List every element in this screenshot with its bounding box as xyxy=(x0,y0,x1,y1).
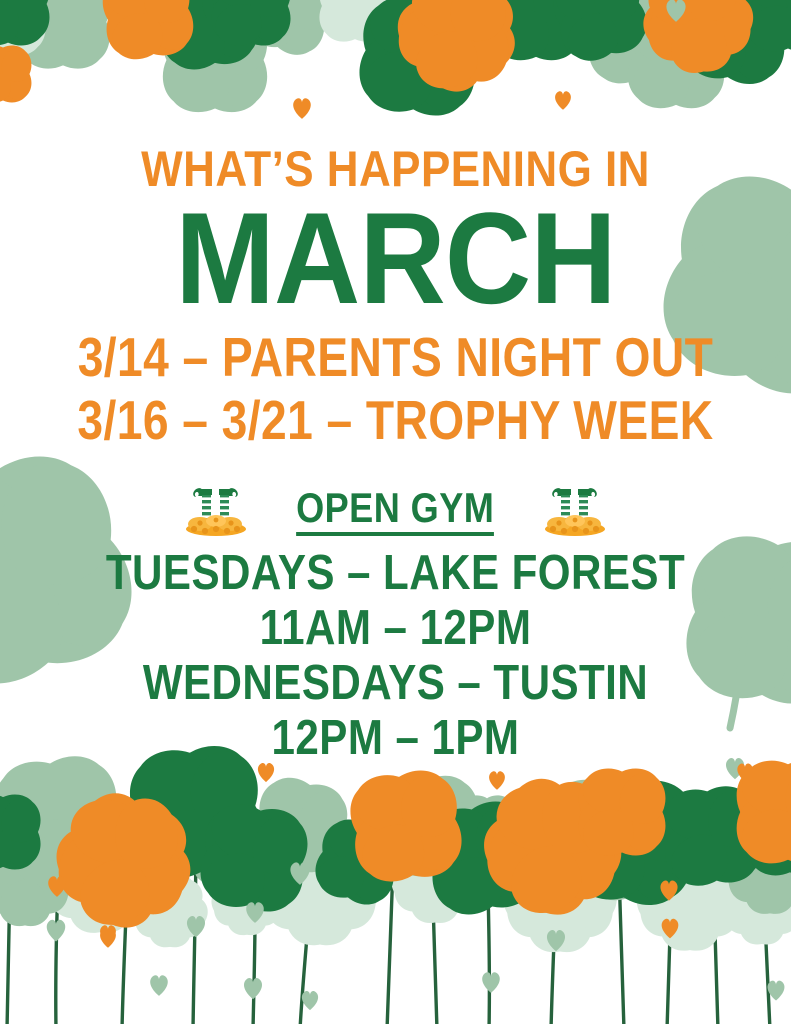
bottom-border-clovers xyxy=(0,722,791,1024)
page-title-month: MARCH xyxy=(32,193,760,323)
leprechaun-legs-pot-of-gold-icon-left xyxy=(178,488,254,536)
open-gym-title: OPEN GYM xyxy=(296,487,494,536)
event-line-2: 3/16 – 3/21 – TROPHY WEEK xyxy=(63,393,727,448)
schedule-line-1: TUESDAYS – LAKE FOREST xyxy=(55,549,735,598)
schedule-line-2: 11AM – 12PM xyxy=(55,604,735,653)
schedule-line-4: 12PM – 1PM xyxy=(55,714,735,763)
open-gym-header: OPEN GYM xyxy=(0,487,791,536)
march-flyer: WHAT’S HAPPENING IN MARCH 3/14 – PARENTS… xyxy=(0,0,791,1024)
leprechaun-legs-pot-of-gold-icon-right xyxy=(537,488,613,536)
top-border-clovers xyxy=(0,0,791,137)
event-line-1: 3/14 – PARENTS NIGHT OUT xyxy=(63,330,727,385)
schedule-line-3: WEDNESDAYS – TUSTIN xyxy=(55,659,735,708)
